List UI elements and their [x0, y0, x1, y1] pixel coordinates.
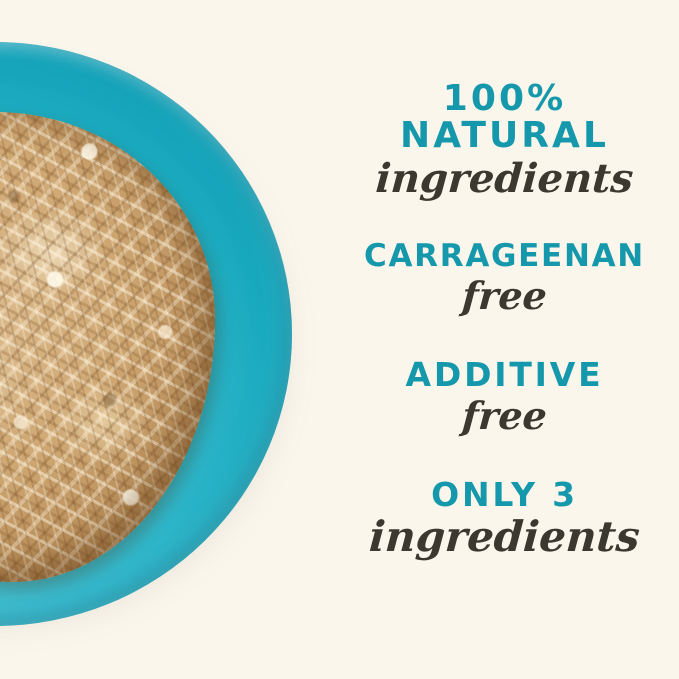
claim-carrageenan-heading-line1: CARRAGEENAN [330, 240, 679, 272]
claim-natural: 100% NATURAL ingredients [330, 80, 679, 199]
claim-carrageenan: CARRAGEENAN free [330, 240, 679, 315]
claim-only-3-ingredients: ONLY 3 ingredients [330, 478, 679, 558]
claim-additive-heading-line1: ADDITIVE [330, 358, 679, 392]
claim-natural-subtext: ingredients [329, 159, 679, 199]
claim-only-3-ingredients-heading-line1: ONLY 3 [330, 478, 679, 512]
claim-additive-heading: ADDITIVE [330, 358, 679, 392]
claim-natural-heading: 100% NATURAL [330, 80, 679, 155]
claim-additive: ADDITIVE free [330, 358, 679, 435]
claim-natural-heading-line2: NATURAL [330, 117, 679, 154]
claim-additive-subtext: free [329, 397, 679, 435]
claims-list: 100% NATURAL ingredients CARRAGEENAN fre… [330, 0, 679, 679]
claim-natural-heading-line1: 100% [330, 80, 679, 117]
product-photo [0, 0, 330, 679]
product-feature-graphic: 100% NATURAL ingredients CARRAGEENAN fre… [0, 0, 679, 679]
claim-carrageenan-heading: CARRAGEENAN [330, 240, 679, 272]
claim-only-3-ingredients-heading: ONLY 3 [330, 478, 679, 512]
claim-only-3-ingredients-subtext: ingredients [329, 516, 679, 558]
claim-carrageenan-subtext: free [329, 277, 679, 315]
shredded-food-mound [0, 112, 215, 582]
